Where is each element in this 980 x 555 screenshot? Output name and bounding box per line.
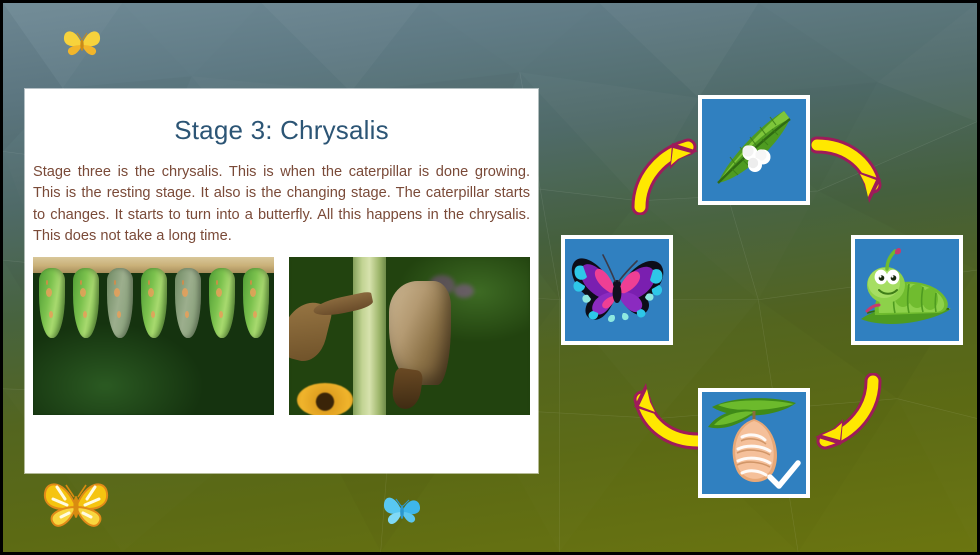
life-cycle-stage-butterfly[interactable] <box>561 235 673 345</box>
photo-green-chrysalides <box>33 257 274 415</box>
slide-canvas: Stage 3: Chrysalis Stage three is the ch… <box>0 0 980 555</box>
check-mark-icon <box>766 460 802 492</box>
arrow-caterpillar-to-chrysalis-icon <box>811 373 889 453</box>
life-cycle-stage-chrysalis[interactable] <box>698 388 810 498</box>
caterpillar-icon <box>857 243 957 337</box>
life-cycle-diagram <box>548 83 978 543</box>
yellow-flower <box>297 383 353 415</box>
plant-stem <box>353 257 386 415</box>
arrow-chrysalis-to-butterfly-icon <box>626 373 704 453</box>
arrow-egg-to-caterpillar-icon <box>811 135 889 215</box>
life-cycle-stage-caterpillar[interactable] <box>851 235 963 345</box>
photo-brown-chrysalis <box>289 257 530 415</box>
page-title: Stage 3: Chrysalis <box>25 89 538 146</box>
arrow-butterfly-to-egg-icon <box>626 135 704 215</box>
body-paragraph: Stage three is the chrysalis. This is wh… <box>25 146 538 247</box>
leaf-with-eggs-icon <box>706 103 802 197</box>
photo-row <box>33 257 530 415</box>
butterfly-icon <box>567 247 667 333</box>
life-cycle-stage-egg[interactable] <box>698 95 810 205</box>
content-card: Stage 3: Chrysalis Stage three is the ch… <box>25 89 538 473</box>
